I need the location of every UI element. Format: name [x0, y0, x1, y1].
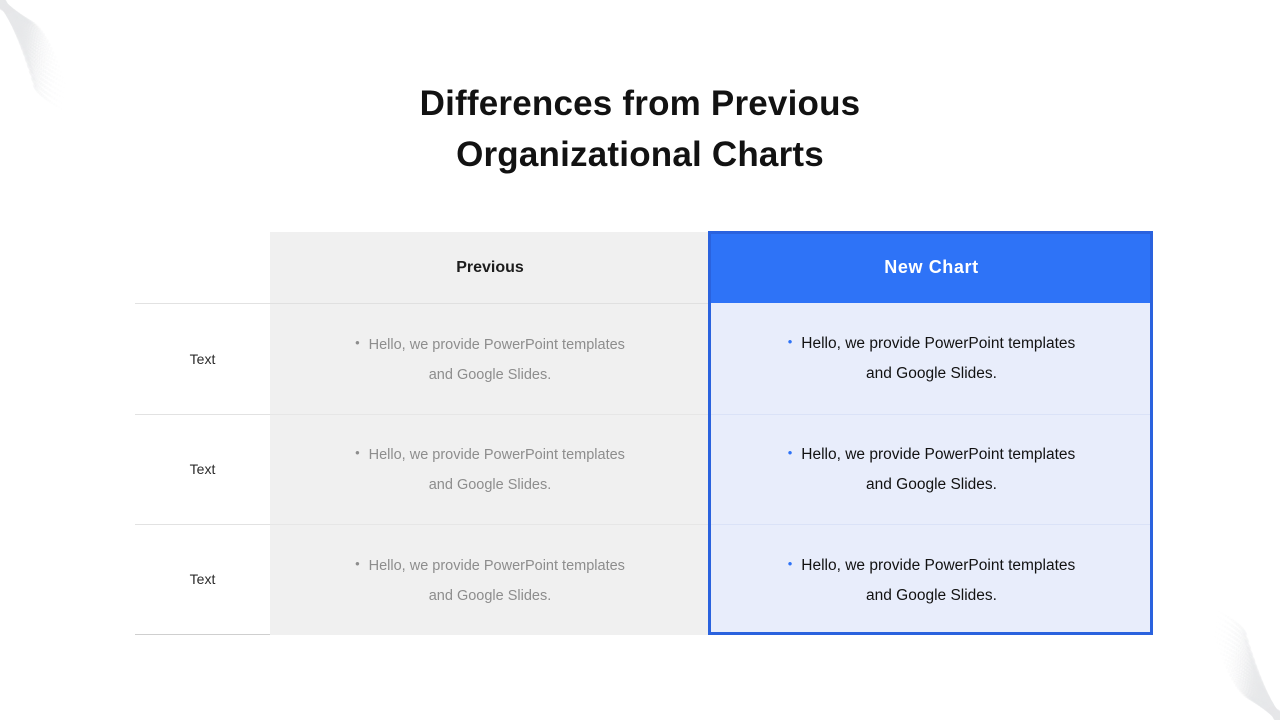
table-header-previous-label: Previous — [456, 259, 524, 277]
page-title-line-2: Organizational Charts — [240, 129, 1040, 180]
table-row: Text — [135, 524, 270, 635]
table-row: Text — [135, 414, 270, 525]
bullet-line: •Hello, we provide PowerPoint templates — [710, 549, 1153, 581]
bullet-point-icon: • — [788, 327, 793, 357]
bullet-text-line-2: and Google Slides. — [270, 360, 710, 390]
row-label-3: Text — [190, 571, 216, 587]
new-chart-cell-2: •Hello, we provide PowerPoint templates … — [710, 414, 1153, 525]
bullet-text-line-1: Hello, we provide PowerPoint templates — [801, 446, 1075, 463]
bullet-text-line-1: Hello, we provide PowerPoint templates — [801, 335, 1075, 352]
comparison-table: Previous New Chart Text •Hello, we provi… — [135, 232, 1153, 635]
new-chart-cell-1: •Hello, we provide PowerPoint templates … — [710, 303, 1153, 414]
page-title-line-1: Differences from Previous — [240, 78, 1040, 129]
table-header-corner-cell — [135, 232, 270, 303]
previous-cell-1: •Hello, we provide PowerPoint templates … — [270, 303, 710, 414]
bullet-point-icon: • — [355, 549, 360, 579]
bullet-text-line-2: and Google Slides. — [270, 581, 710, 611]
page-title: Differences from Previous Organizational… — [240, 78, 1040, 180]
bullet-text-block: •Hello, we provide PowerPoint templates … — [710, 327, 1153, 389]
bullet-point-icon: • — [355, 438, 360, 468]
bullet-text-block: •Hello, we provide PowerPoint templates … — [710, 549, 1153, 611]
table-header-new-chart: New Chart — [710, 232, 1153, 303]
bullet-line: •Hello, we provide PowerPoint templates — [270, 549, 710, 581]
bullet-point-icon: • — [788, 438, 793, 468]
bullet-point-icon: • — [355, 328, 360, 358]
new-chart-cell-3: •Hello, we provide PowerPoint templates … — [710, 524, 1153, 635]
bullet-text-line-2: and Google Slides. — [710, 359, 1153, 389]
previous-cell-2: •Hello, we provide PowerPoint templates … — [270, 414, 710, 525]
bullet-text-block: •Hello, we provide PowerPoint templates … — [270, 328, 710, 390]
bullet-text-line-1: Hello, we provide PowerPoint templates — [369, 337, 625, 353]
bullet-line: •Hello, we provide PowerPoint templates — [710, 327, 1153, 359]
bullet-text-block: •Hello, we provide PowerPoint templates … — [270, 438, 710, 500]
bullet-line: •Hello, we provide PowerPoint templates — [710, 438, 1153, 470]
previous-cell-3: •Hello, we provide PowerPoint templates … — [270, 524, 710, 635]
table-header-previous: Previous — [270, 232, 710, 303]
bullet-point-icon: • — [788, 549, 793, 579]
table-header-new-chart-label: New Chart — [884, 257, 978, 278]
bullet-text-block: •Hello, we provide PowerPoint templates … — [270, 549, 710, 611]
row-label-2: Text — [190, 461, 216, 477]
bullet-line: •Hello, we provide PowerPoint templates — [270, 438, 710, 470]
bullet-line: •Hello, we provide PowerPoint templates — [270, 328, 710, 360]
bullet-text-line-1: Hello, we provide PowerPoint templates — [369, 558, 625, 574]
table-row: Text — [135, 303, 270, 414]
row-label-1: Text — [190, 351, 216, 367]
bullet-text-line-2: and Google Slides. — [270, 470, 710, 500]
bullet-text-line-2: and Google Slides. — [710, 581, 1153, 611]
bullet-text-line-2: and Google Slides. — [710, 470, 1153, 500]
bullet-text-block: •Hello, we provide PowerPoint templates … — [710, 438, 1153, 500]
bullet-text-line-1: Hello, we provide PowerPoint templates — [369, 447, 625, 463]
bullet-text-line-1: Hello, we provide PowerPoint templates — [801, 557, 1075, 574]
